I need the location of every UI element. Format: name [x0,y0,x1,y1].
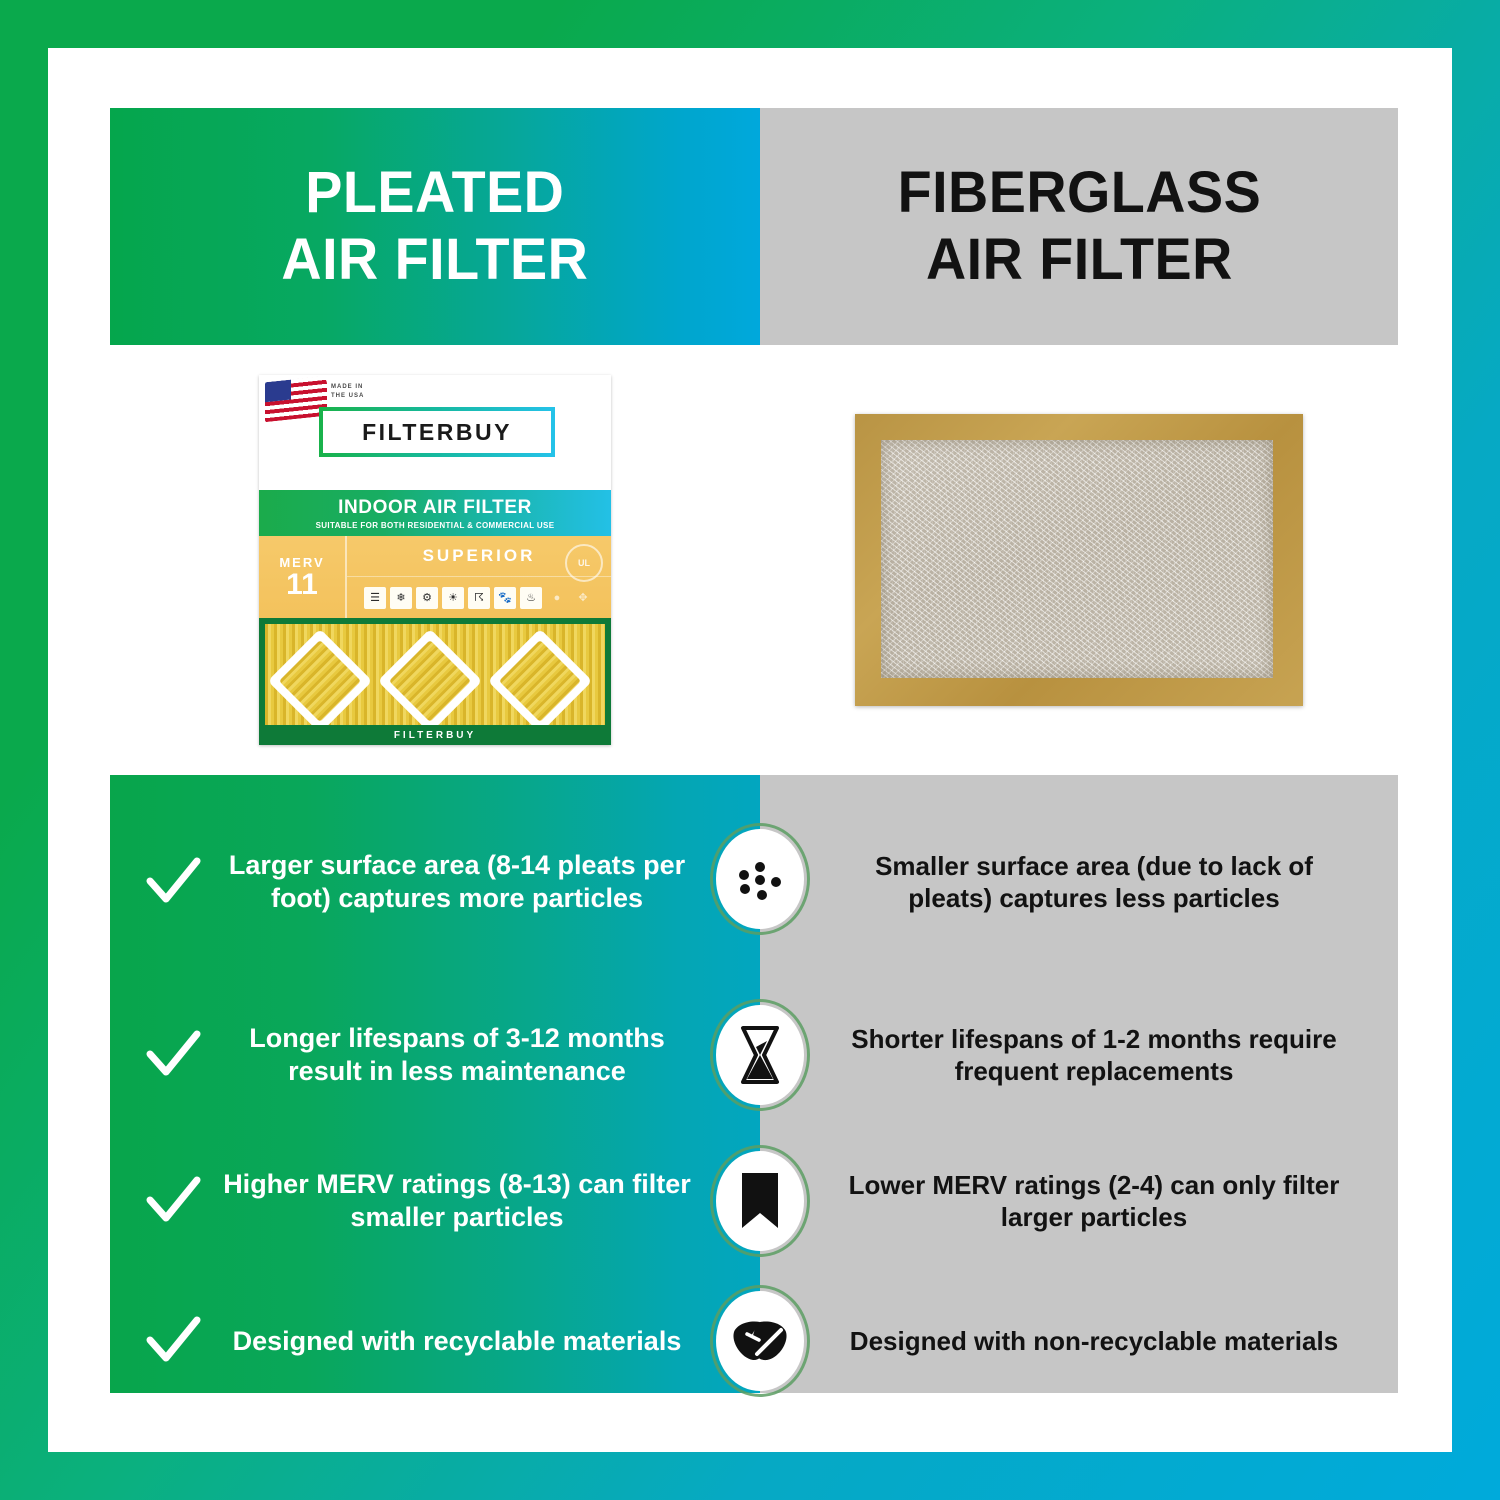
header-fiberglass-line2: AIR FILTER [897,227,1261,293]
row-right-cell: Designed with non-recyclable materials [760,1325,1398,1357]
mold-icon: ☀ [442,587,464,609]
hourglass-icon [710,999,810,1111]
row-right-cell: Shorter lifespans of 1-2 months require … [760,1023,1398,1087]
feature-icon-strip: ☰ ❄ ⚙ ☀ ☈ 🐾 ♨ ● ✥ [347,577,611,618]
header-pleated: PLEATED AIR FILTER [110,108,760,345]
header-fiberglass: FIBERGLASS AIR FILTER [760,108,1398,345]
support-diamond-inner [279,640,361,722]
medal-disc [716,829,804,929]
filterbuy-box-image: MADE IN THE USA FILTERBUY INDOOR AIR FIL… [259,375,611,745]
merv-value: 11 [286,570,318,600]
header-fiberglass-title: FIBERGLASS AIR FILTER [897,160,1261,292]
support-diamond-inner [499,640,581,722]
merv-block: MERV 11 [259,536,347,618]
bookmark-icon [710,1145,810,1257]
pleated-media [265,624,605,739]
row-left-cell: Higher MERV ratings (8-13) can filter sm… [110,1168,760,1234]
filterbuy-box-top: MADE IN THE USA FILTERBUY [259,375,611,490]
comparison-card: PLEATED AIR FILTER FIBERGLASS AIR FILTER… [110,108,1398,1393]
fiberglass-media [881,440,1273,678]
row-left-text: Higher MERV ratings (8-13) can filter sm… [210,1168,704,1234]
band-subtitle: SUITABLE FOR BOTH RESIDENTIAL & COMMERCI… [316,521,555,530]
made-in-line1: MADE IN [331,383,364,392]
comparison-rows: Larger surface area (8-14 pleats per foo… [110,775,1398,1393]
header-pleated-line1: PLEATED [282,160,589,226]
pet-dander-icon: 🐾 [494,587,516,609]
pleated-media-window: FILTERBUY [259,618,611,745]
ul-certified-badge: UL [565,544,603,582]
header-fiberglass-line1: FIBERGLASS [897,160,1261,226]
row-right-cell: Lower MERV ratings (2-4) can only filter… [760,1169,1398,1233]
row-left-text: Designed with recyclable materials [210,1325,704,1358]
particles-icon [710,823,810,935]
check-mark-icon [142,1024,204,1086]
row-left-cell: Larger surface area (8-14 pleats per foo… [110,849,760,915]
row-right-text: Smaller surface area (due to lack of ple… [830,850,1358,914]
pill-icon: ● [546,587,568,609]
made-in-usa-label: MADE IN THE USA [331,383,364,401]
row-left-text: Larger surface area (8-14 pleats per foo… [210,849,704,915]
made-in-line2: THE USA [331,392,364,401]
dust-icon: ☰ [364,587,386,609]
header-row: PLEATED AIR FILTER FIBERGLASS AIR FILTER [110,108,1398,345]
row-right-cell: Smaller surface area (due to lack of ple… [760,850,1398,914]
medal-disc [716,1005,804,1105]
fiberglass-filter-image [855,414,1303,706]
check-mark-icon [142,1170,204,1232]
indoor-air-filter-band: INDOOR AIR FILTER SUITABLE FOR BOTH RESI… [259,490,611,536]
virus-icon: ☈ [468,587,490,609]
smoke-icon: ♨ [520,587,542,609]
product-image-row: MADE IN THE USA FILTERBUY INDOOR AIR FIL… [110,345,1398,775]
row-right-text: Lower MERV ratings (2-4) can only filter… [830,1169,1358,1233]
band-title: INDOOR AIR FILTER [338,497,532,519]
pleated-product-cell: MADE IN THE USA FILTERBUY INDOOR AIR FIL… [110,345,760,775]
row-left-cell: Longer lifespans of 3-12 months result i… [110,1022,760,1088]
odor-icon: ✥ [572,587,594,609]
medal-disc [716,1151,804,1251]
medal-disc [716,1291,804,1391]
fiberglass-product-cell [760,345,1398,775]
usa-flag-icon [265,376,327,423]
header-pleated-line2: AIR FILTER [282,227,589,293]
row-left-text: Longer lifespans of 3-12 months result i… [210,1022,704,1088]
leaf-icon [710,1285,810,1397]
filterbuy-wordmark: FILTERBUY [362,419,512,446]
filterbuy-footer-brand: FILTERBUY [259,725,611,745]
row-right-text: Designed with non-recyclable materials [830,1325,1358,1357]
support-diamond-inner [389,640,471,722]
check-mark-icon [142,851,204,913]
row-right-text: Shorter lifespans of 1-2 months require … [830,1023,1358,1087]
bacteria-icon: ⚙ [416,587,438,609]
merv-band: MERV 11 SUPERIOR ☰ ❄ ⚙ ☀ ☈ 🐾 ♨ [259,536,611,618]
header-pleated-title: PLEATED AIR FILTER [282,160,589,292]
filterbuy-logo-box: FILTERBUY [319,407,555,457]
pollen-icon: ❄ [390,587,412,609]
row-left-cell: Designed with recyclable materials [110,1310,760,1372]
check-mark-icon [142,1310,204,1372]
